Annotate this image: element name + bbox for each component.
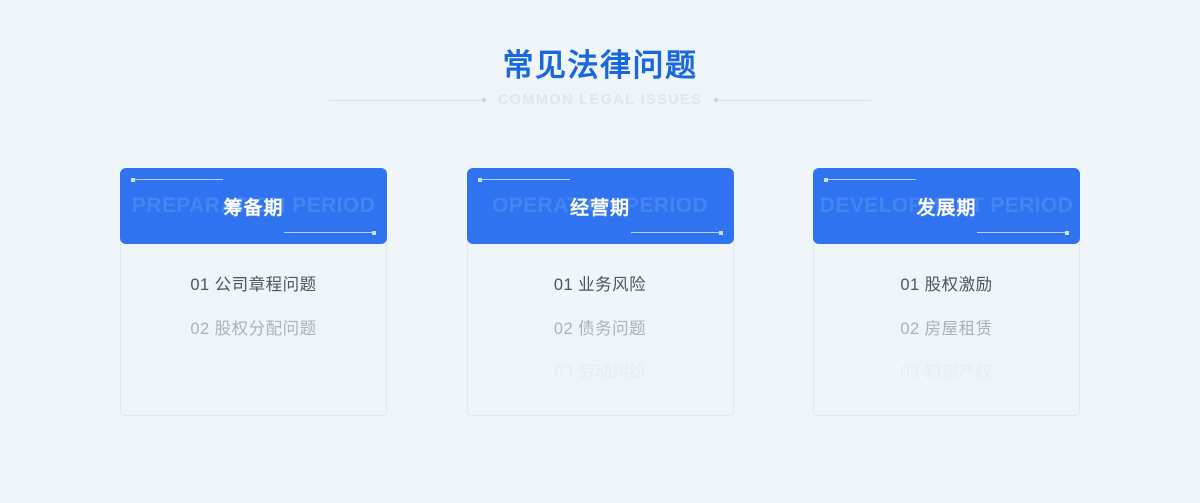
stage-card-development[interactable]: DEVELOPMENT PERIOD 发展期 01股权激励 02房屋租赁 03知…	[813, 168, 1080, 416]
card-body: 01公司章程问题 02股权分配问题	[120, 241, 387, 416]
card-list: PREPARATION PERIOD 筹备期 01公司章程问题 02股权分配问题	[120, 168, 1080, 416]
header-rule-top-left	[480, 179, 570, 180]
card-title-cn: 发展期	[916, 193, 976, 220]
issue-label: 债务问题	[578, 320, 646, 338]
issue-label: 知识产权	[925, 363, 993, 381]
section-header: 常见法律问题 COMMON LEGAL ISSUES	[0, 44, 1200, 108]
card-header: DEVELOPMENT PERIOD 发展期	[813, 168, 1080, 244]
issue-label: 房屋租赁	[925, 320, 993, 338]
card-body: 01业务风险 02债务问题 03劳动纠纷	[467, 241, 734, 416]
issue-label: 业务风险	[578, 276, 646, 294]
card-body: 01股权激励 02房屋租赁 03知识产权	[813, 241, 1080, 416]
decorative-rule-left	[329, 100, 484, 101]
issue-number: 02	[190, 320, 209, 338]
issue-item[interactable]: 03知识产权	[814, 364, 1079, 381]
issue-number: 03	[554, 363, 573, 381]
issue-item[interactable]	[121, 364, 386, 381]
issue-label: 股权激励	[925, 276, 993, 294]
card-header: PREPARATION PERIOD 筹备期	[120, 168, 387, 244]
issue-item[interactable]: 02房屋租赁	[814, 321, 1079, 338]
card-title-cn: 筹备期	[223, 193, 283, 220]
page-title: 常见法律问题	[0, 44, 1200, 88]
page-subtitle: COMMON LEGAL ISSUES	[498, 92, 702, 108]
issue-number: 01	[554, 276, 573, 294]
issue-item[interactable]: 01业务风险	[468, 277, 733, 294]
header-rule-bottom-right	[631, 232, 721, 233]
issue-number: 03	[900, 363, 919, 381]
header-rule-top-left	[826, 179, 916, 180]
issue-item[interactable]: 03劳动纠纷	[468, 364, 733, 381]
issue-number: 01	[900, 276, 919, 294]
issue-item[interactable]: 01股权激励	[814, 277, 1079, 294]
page-root: 常见法律问题 COMMON LEGAL ISSUES PREPARATION P…	[0, 0, 1200, 503]
issue-label: 公司章程问题	[215, 276, 317, 294]
card-title-cn: 经营期	[570, 193, 630, 220]
issue-number: 02	[554, 320, 573, 338]
card-header: OPERATION PERIOD 经营期	[467, 168, 734, 244]
stage-card-preparation[interactable]: PREPARATION PERIOD 筹备期 01公司章程问题 02股权分配问题	[120, 168, 387, 416]
issue-label: 股权分配问题	[215, 320, 317, 338]
header-rule-bottom-right	[977, 232, 1067, 233]
issue-number: 02	[900, 320, 919, 338]
issue-item[interactable]: 02股权分配问题	[121, 321, 386, 338]
stage-card-operation[interactable]: OPERATION PERIOD 经营期 01业务风险 02债务问题 03劳动纠…	[467, 168, 734, 416]
decorative-rule-right	[716, 100, 871, 101]
subtitle-row: COMMON LEGAL ISSUES	[0, 92, 1200, 108]
issue-label: 劳动纠纷	[578, 363, 646, 381]
issue-number: 01	[190, 276, 209, 294]
header-rule-bottom-right	[284, 232, 374, 233]
issue-item[interactable]: 02债务问题	[468, 321, 733, 338]
issue-item[interactable]: 01公司章程问题	[121, 277, 386, 294]
header-rule-top-left	[133, 179, 223, 180]
